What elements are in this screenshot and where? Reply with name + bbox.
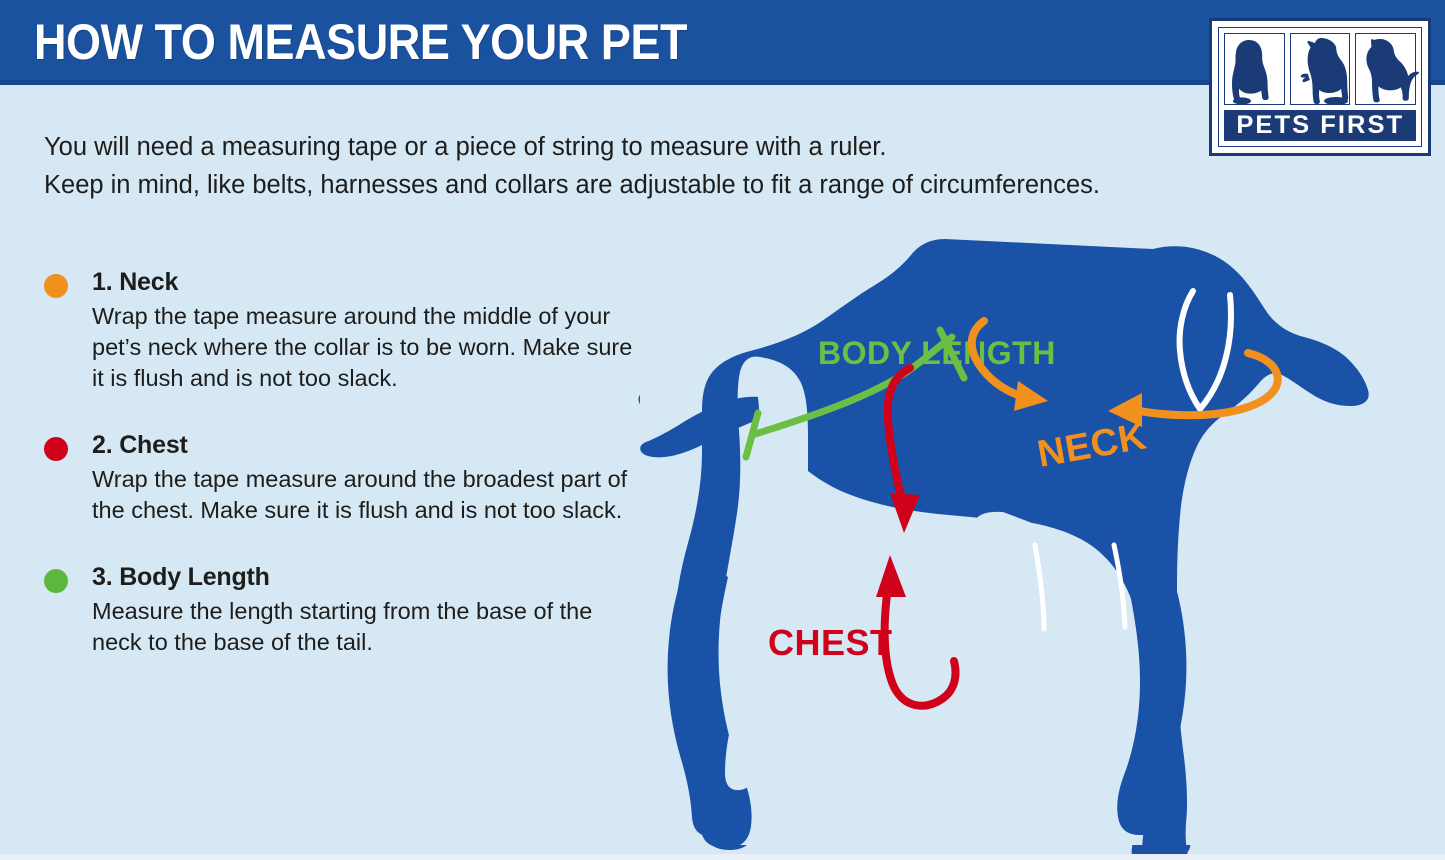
dog-begging-silhouette-icon [1290,33,1351,105]
step-item-body-length: 3. Body Length Measure the length starti… [44,561,644,658]
brand-logo: PETS FIRST [1209,18,1431,156]
infographic-page: HOW TO MEASURE YOUR PET [0,0,1445,860]
intro-line-2: Keep in mind, like belts, harnesses and … [44,166,1194,204]
dog-measurement-diagram: BODY LENGTH NECK CHEST [640,245,1445,845]
step-bullet-chest [44,437,68,461]
dog-standing-silhouette-icon [1355,33,1416,105]
dog-sitting-silhouette-icon [1224,33,1285,105]
body-length-label: BODY LENGTH [818,335,1056,371]
logo-wordmark-text: PETS FIRST [1236,113,1404,138]
step-body-chest: Wrap the tape measure around the broades… [92,464,644,526]
step-item-chest: 2. Chest Wrap the tape measure around th… [44,429,644,526]
intro-text: You will need a measuring tape or a piec… [44,128,1194,204]
step-title-body-length: 3. Body Length [92,561,644,593]
step-item-neck: 1. Neck Wrap the tape measure around the… [44,266,644,394]
bottom-strip [0,854,1445,860]
step-bullet-neck [44,274,68,298]
step-body-neck: Wrap the tape measure around the middle … [92,301,644,394]
logo-inner-frame: PETS FIRST [1218,27,1422,147]
step-bullet-body-length [44,569,68,593]
dog-illustration [630,215,1445,860]
intro-line-1: You will need a measuring tape or a piec… [44,128,1194,166]
step-title-chest: 2. Chest [92,429,644,461]
measurement-steps-list: 1. Neck Wrap the tape measure around the… [44,266,644,693]
step-body-body-length: Measure the length starting from the bas… [92,596,644,658]
logo-panel-row [1224,33,1416,105]
chest-label: CHEST [768,622,893,663]
page-title: HOW TO MEASURE YOUR PET [34,13,687,71]
step-title-neck: 1. Neck [92,266,644,298]
logo-wordmark: PETS FIRST [1224,110,1416,141]
